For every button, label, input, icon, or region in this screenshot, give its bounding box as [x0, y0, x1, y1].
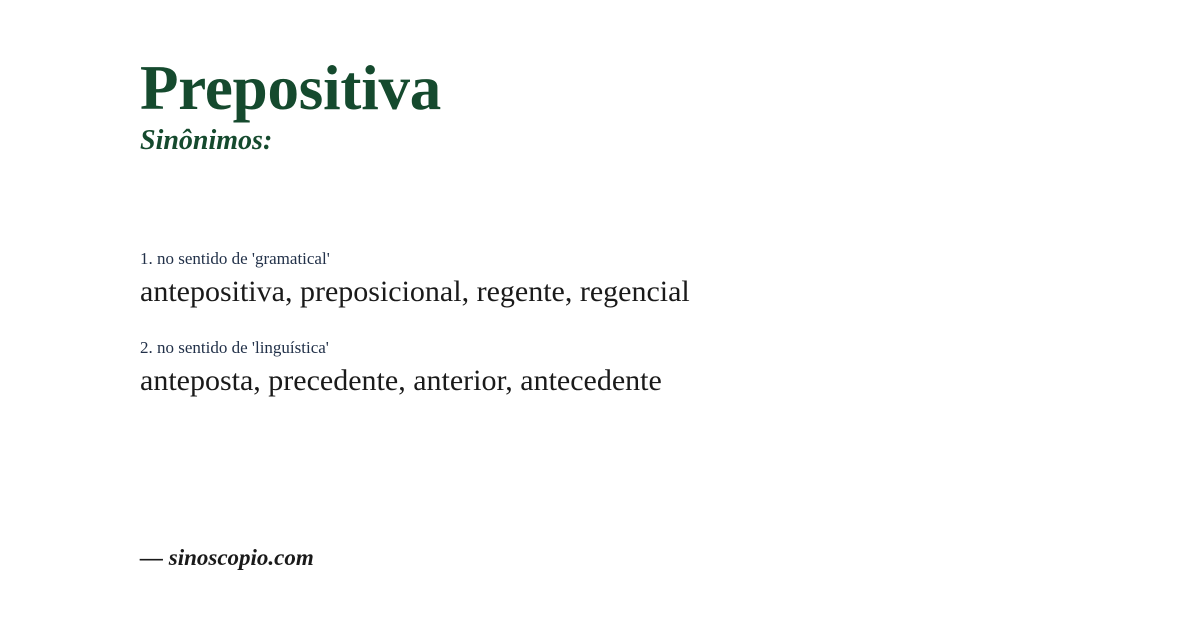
page-title: Prepositiva: [140, 56, 1140, 120]
sense-label-2: 2. no sentido de 'linguística': [140, 337, 1140, 359]
source-attribution: — sinoscopio.com: [140, 544, 314, 572]
sense-block-2: 2. no sentido de 'linguística' anteposta…: [140, 337, 1140, 400]
synonyms-subtitle: Sinônimos:: [140, 126, 1140, 157]
card-footer: — sinoscopio.com: [140, 544, 314, 572]
sense-synonyms-2: anteposta, precedente, anterior, anteced…: [140, 361, 1140, 400]
senses-list: 1. no sentido de 'gramatical' antepositi…: [140, 248, 1140, 400]
sense-synonyms-1: antepositiva, preposicional, regente, re…: [140, 272, 1140, 311]
sense-block-1: 1. no sentido de 'gramatical' antepositi…: [140, 248, 1140, 311]
synonym-card: Prepositiva Sinônimos: 1. no sentido de …: [0, 0, 1200, 628]
sense-label-1: 1. no sentido de 'gramatical': [140, 248, 1140, 270]
card-header: Prepositiva Sinônimos:: [140, 56, 1140, 157]
